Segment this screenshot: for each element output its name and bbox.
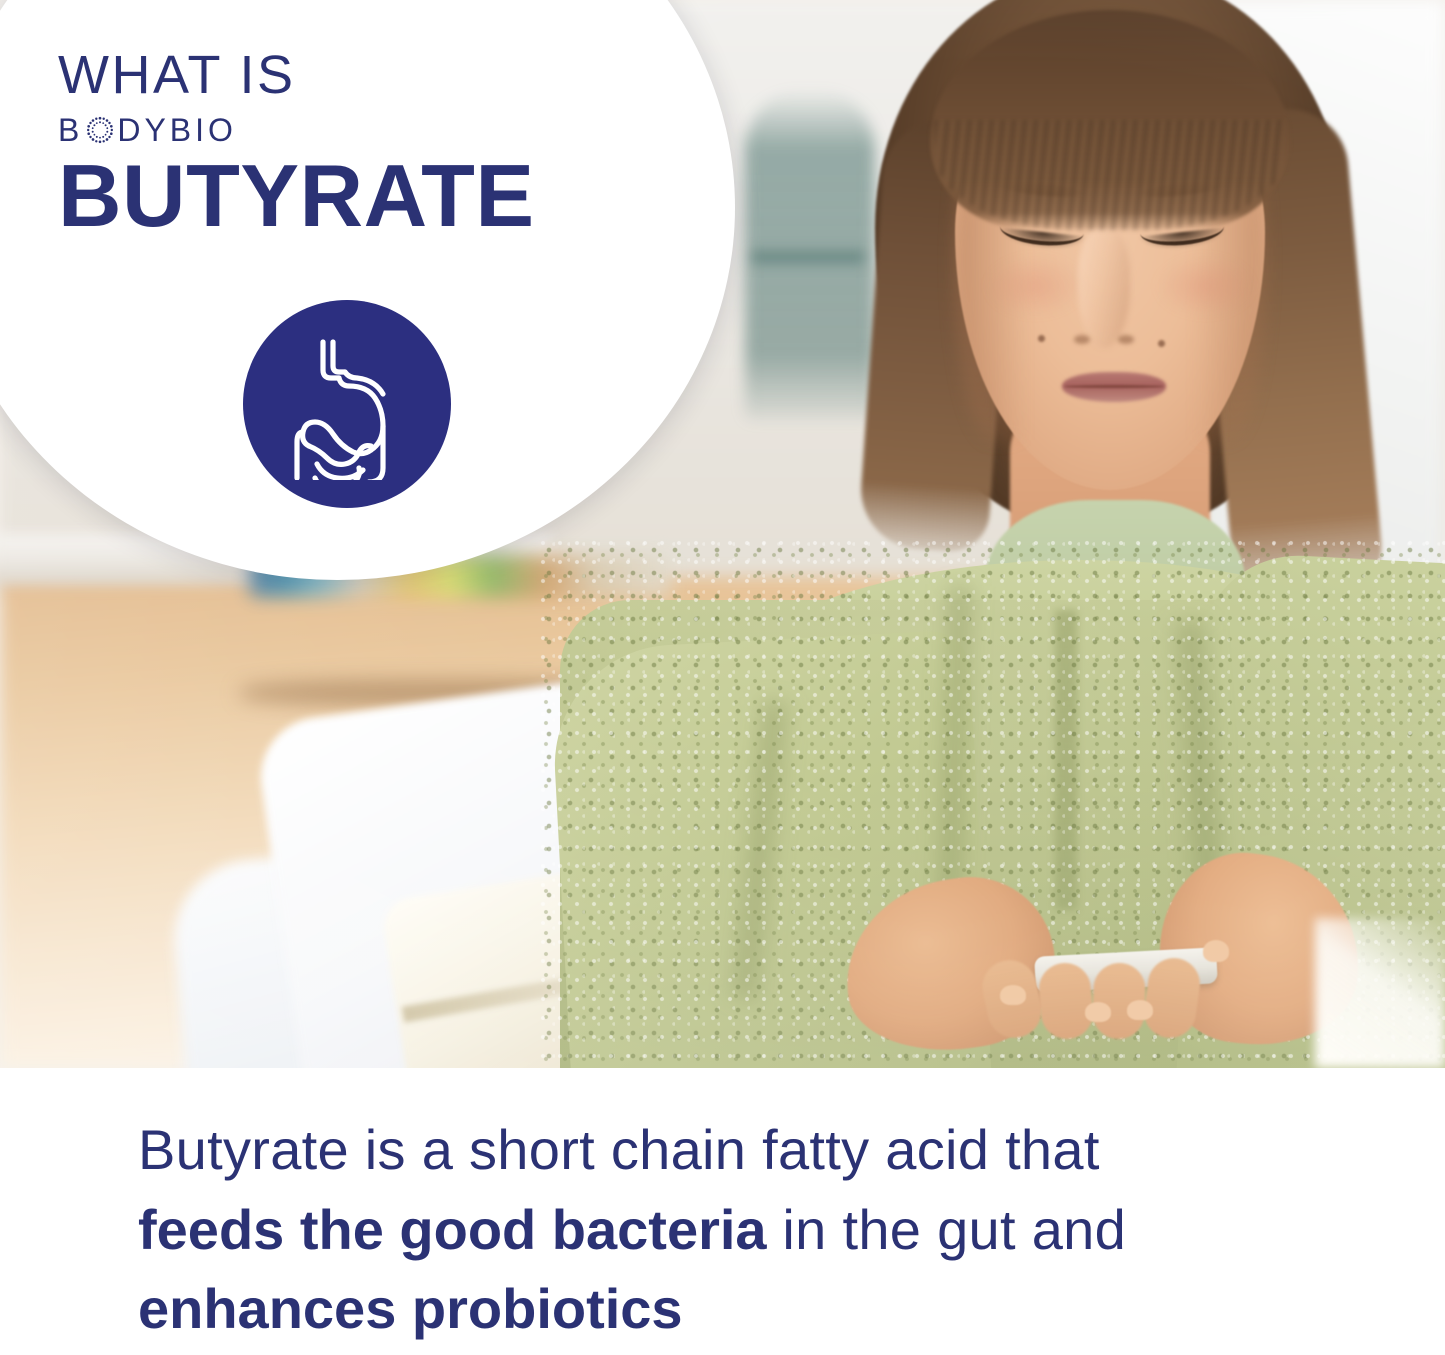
bodybio-prefix: B: [58, 114, 83, 146]
bodybio-wordmark: B: [58, 114, 698, 146]
caption-text-block: Butyrate is a short chain fatty acid tha…: [138, 1110, 1318, 1349]
caption-line-2-plain: in the gut and: [767, 1198, 1126, 1261]
caption-panel: Butyrate is a short chain fatty acid tha…: [0, 1068, 1445, 1355]
bottom-right-blanket: [1315, 918, 1445, 1068]
radial-dots-o-icon: [85, 115, 115, 145]
fingernail-2: [1085, 1002, 1111, 1022]
gut-badge: [243, 300, 451, 508]
bodybio-suffix: DYBIO: [117, 114, 237, 146]
beauty-mark-lower: [1158, 340, 1165, 347]
nostril-right: [1118, 335, 1134, 344]
page-title: BUTYRATE: [58, 152, 698, 240]
nose: [1078, 228, 1130, 348]
fingernail-1: [1000, 985, 1026, 1005]
digestive-system-icon: [271, 328, 423, 480]
caption-line-1: Butyrate is a short chain fatty acid tha…: [138, 1110, 1318, 1190]
eyebrow-text: WHAT IS: [58, 48, 698, 102]
cheek-right: [1155, 255, 1255, 317]
fingernail-3: [1127, 1000, 1153, 1020]
caption-line-3: enhances probiotics: [138, 1269, 1318, 1349]
beauty-mark-upper: [1038, 335, 1045, 342]
headline-block: WHAT IS B: [58, 48, 698, 240]
cheek-left: [985, 255, 1085, 317]
lip-line: [1064, 385, 1164, 388]
caption-line-2-bold: feeds the good bacteria: [138, 1198, 767, 1261]
fingernail-4: [1203, 940, 1229, 962]
nostril-left: [1074, 335, 1090, 344]
caption-line-3-bold: enhances probiotics: [138, 1277, 683, 1340]
infographic-page: WHAT IS B: [0, 0, 1445, 1355]
caption-line-2: feeds the good bacteria in the gut and: [138, 1190, 1318, 1270]
